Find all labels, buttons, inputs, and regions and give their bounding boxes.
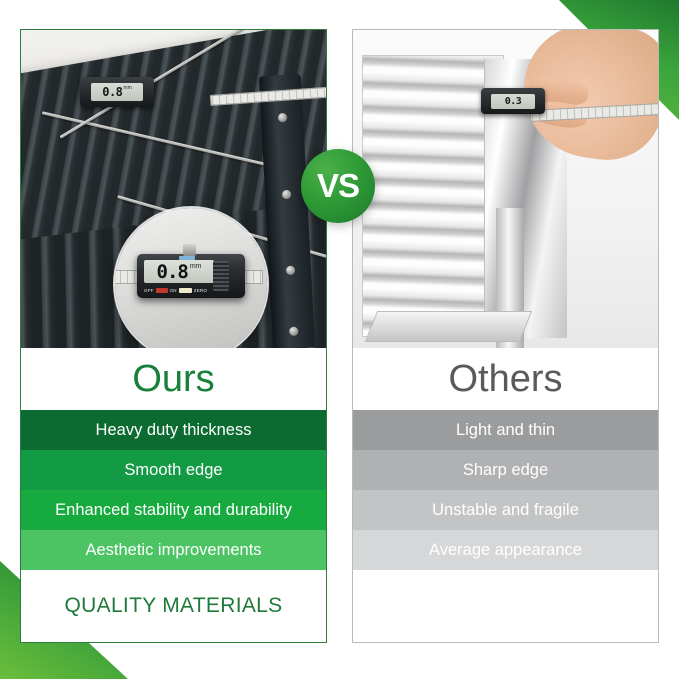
caliper-reading-small: 0.8 [102,85,122,99]
caliper-button-row-ours: OFF ON ZERO [144,288,207,293]
comparison-infographic: 0.8 mm 0.8 mm OFF ON [0,0,679,679]
magnifier-circle-ours: 0.8 mm OFF ON ZERO [115,208,267,348]
product-photo-ours: 0.8 mm 0.8 mm OFF ON [21,30,326,348]
caliper-power-switch[interactable] [156,288,168,293]
caliper-zero-switch[interactable] [179,288,192,293]
caliper-unit-small: mm [123,85,131,91]
feature-row: Light and thin [353,410,658,450]
footer-note-ours: QUALITY MATERIALS [21,570,326,642]
caliper-zero-label: ZERO [194,288,207,293]
feature-list-ours: Heavy duty thickness Smooth edge Enhance… [21,410,326,570]
footer-text-ours: QUALITY MATERIALS [65,594,283,618]
caliper-knob [183,244,196,256]
feature-list-others: Light and thin Sharp edge Unstable and f… [353,410,658,570]
caliper-reading-small-others: 0.3 [505,96,522,107]
caliper-off-label: OFF [144,288,154,293]
feature-row: Average appearance [353,530,658,570]
digital-caliper-ours: 0.8 mm OFF ON ZERO [137,254,245,298]
panel-title-others: Others [353,348,658,410]
feature-row: Enhanced stability and durability [21,490,326,530]
title-text-ours: Ours [132,358,214,401]
panel-title-ours: Ours [21,348,326,410]
product-photo-others: 0.3 mm/inch 0.3 mm OFF [353,30,658,348]
caliper-reading-ours: 0.8 [157,261,188,283]
feature-row: Aesthetic improvements [21,530,326,570]
tray-silver [365,311,532,342]
vs-badge: VS [301,149,375,223]
caliper-on-label: ON [170,288,177,293]
panel-ours: 0.8 mm 0.8 mm OFF ON [20,29,327,643]
feature-row: Sharp edge [353,450,658,490]
feature-row: Smooth edge [21,450,326,490]
digital-caliper-small: 0.8 mm [80,77,154,107]
digital-caliper-small-others: 0.3 [481,88,545,114]
footer-note-others [353,570,658,642]
vs-label: VS [317,167,359,205]
caliper-lcd-small-others: 0.3 [491,94,535,109]
caliper-lcd-ours: 0.8 mm [144,260,214,283]
caliper-unit-ours: mm [190,263,202,270]
caliper-grip [213,261,229,291]
feature-row: Heavy duty thickness [21,410,326,450]
panel-others: 0.3 mm/inch 0.3 mm OFF [352,29,659,643]
feature-row: Unstable and fragile [353,490,658,530]
caliper-lcd-small: 0.8 mm [91,83,143,101]
title-text-others: Others [448,358,562,401]
